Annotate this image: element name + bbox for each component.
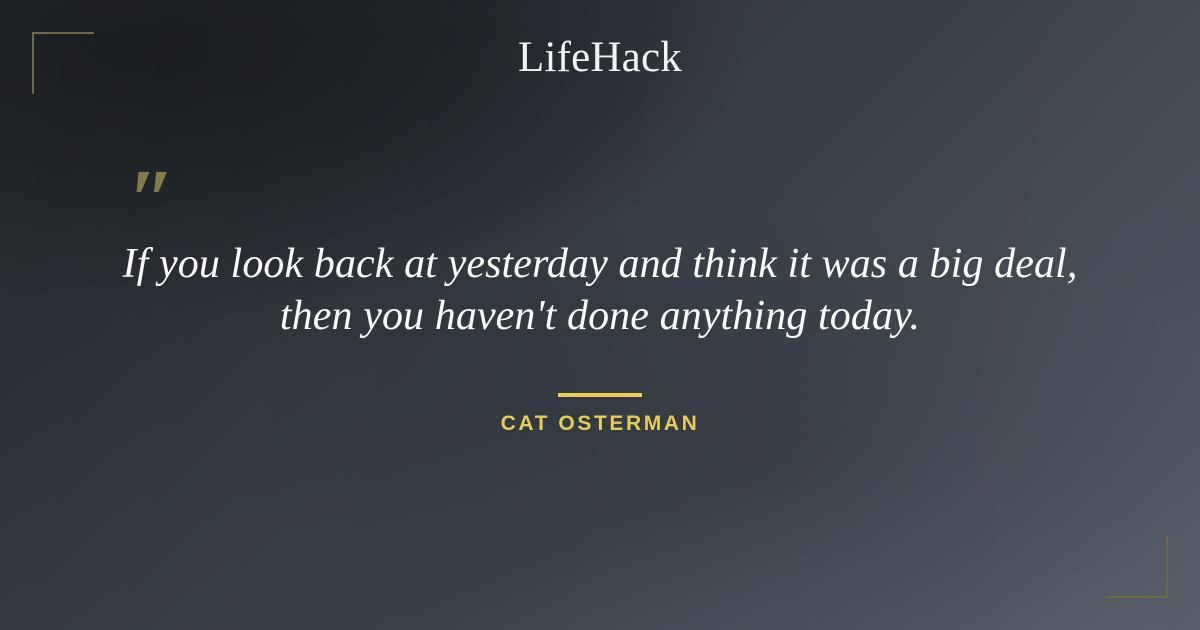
divider-container — [0, 384, 1200, 402]
author-attribution: CAT OSTERMAN — [0, 412, 1200, 436]
brand-logo: LifeHack — [0, 36, 1200, 79]
quote-line: If you look back at yesterday and think … — [60, 238, 1140, 290]
gold-divider-rule — [558, 393, 642, 397]
quote-card: LifeHack ″ If you look back at yesterday… — [0, 0, 1200, 630]
quote-text: If you look back at yesterday and think … — [60, 238, 1140, 342]
quotation-mark-icon: ″ — [128, 156, 176, 242]
corner-bracket-bottom-right-icon — [1106, 536, 1168, 598]
quote-line: then you haven't done anything today. — [60, 290, 1140, 342]
